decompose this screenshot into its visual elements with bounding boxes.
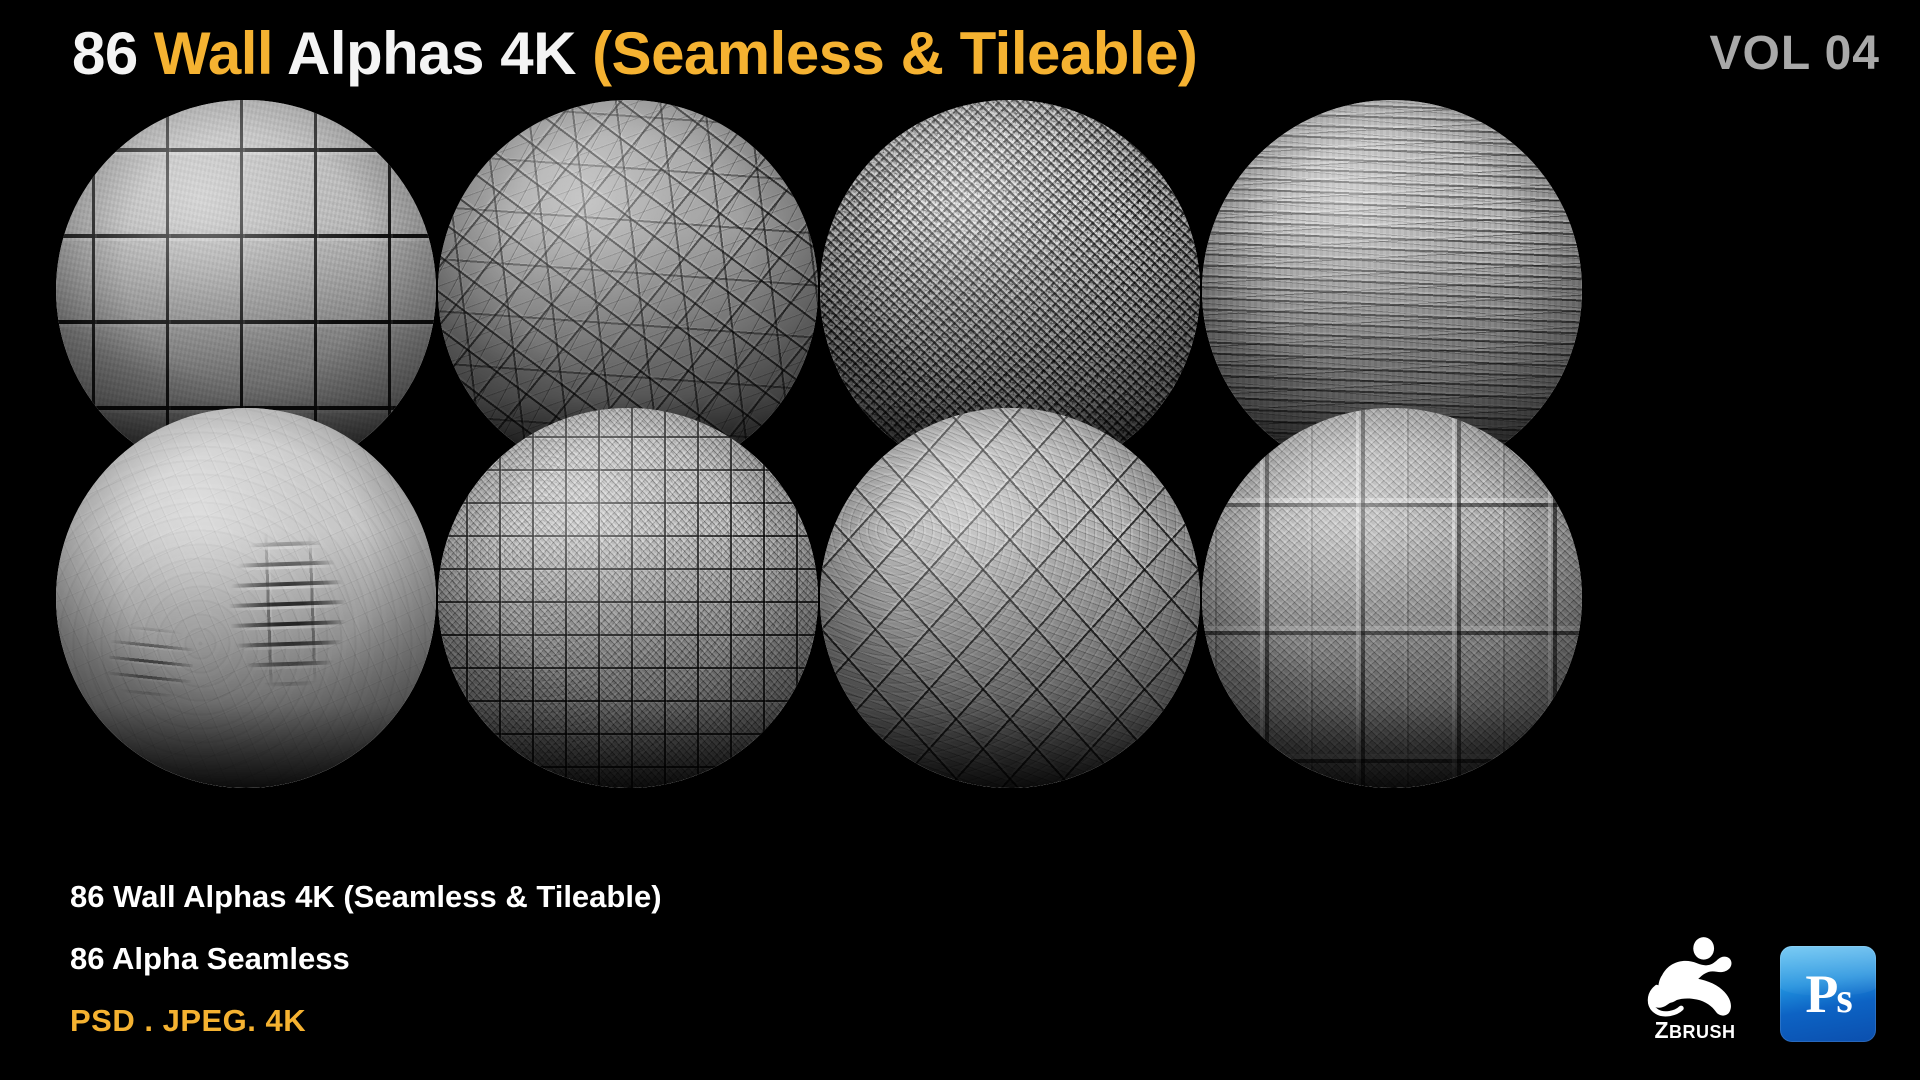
- zbrush-z: Z: [1654, 1017, 1669, 1043]
- texture-diamond-lattice: [820, 408, 1200, 788]
- caption-block: 86 Wall Alphas 4K (Seamless & Tileable) …: [70, 881, 662, 1036]
- caption-line-2: 86 Alpha Seamless: [70, 943, 662, 974]
- logo-row: ZBRUSH Ps: [1636, 924, 1876, 1042]
- photoshop-p: P: [1805, 964, 1836, 1024]
- texture-plaster: [56, 408, 436, 788]
- sphere-slot-6[interactable]: [438, 408, 818, 788]
- title-part-count: 86: [72, 20, 154, 87]
- poster-root: 86 Wall Alphas 4K (Seamless & Tileable) …: [0, 0, 1920, 1080]
- photoshop-s: s: [1836, 976, 1850, 1022]
- caption-line-3: PSD . JPEG. 4K: [70, 1005, 662, 1036]
- zbrush-logo: ZBRUSH: [1636, 924, 1754, 1042]
- sphere-panel-grid[interactable]: [1202, 408, 1582, 788]
- page-title: 86 Wall Alphas 4K (Seamless & Tileable): [72, 24, 1197, 84]
- preview-grid: [0, 92, 1920, 882]
- sphere-diamond[interactable]: [820, 408, 1200, 788]
- volume-label: VOL 04: [1709, 30, 1880, 78]
- zbrush-wordmark: ZBRUSH: [1654, 1019, 1735, 1042]
- sphere-slot-5[interactable]: [56, 408, 436, 788]
- caption-line-1: 86 Wall Alphas 4K (Seamless & Tileable): [70, 881, 662, 912]
- photoshop-icon[interactable]: Ps: [1780, 946, 1876, 1042]
- sphere-slot-8[interactable]: [1202, 408, 1582, 788]
- texture-fine-tiles: [438, 408, 818, 788]
- sphere-fine-tiles[interactable]: [438, 408, 818, 788]
- photoshop-wordmark: Ps: [1805, 967, 1850, 1021]
- texture-panel-grid: [1202, 408, 1582, 788]
- zbrush-brush: BRUSH: [1669, 1022, 1736, 1042]
- sphere-slot-7[interactable]: [820, 408, 1200, 788]
- title-part-seamless: (Seamless & Tileable): [592, 20, 1197, 87]
- title-part-alphas: Alphas 4K: [287, 20, 592, 87]
- title-part-wall: Wall: [154, 20, 287, 87]
- zbrush-figure-icon: [1643, 937, 1747, 1017]
- sphere-plaster-damaged[interactable]: [56, 408, 436, 788]
